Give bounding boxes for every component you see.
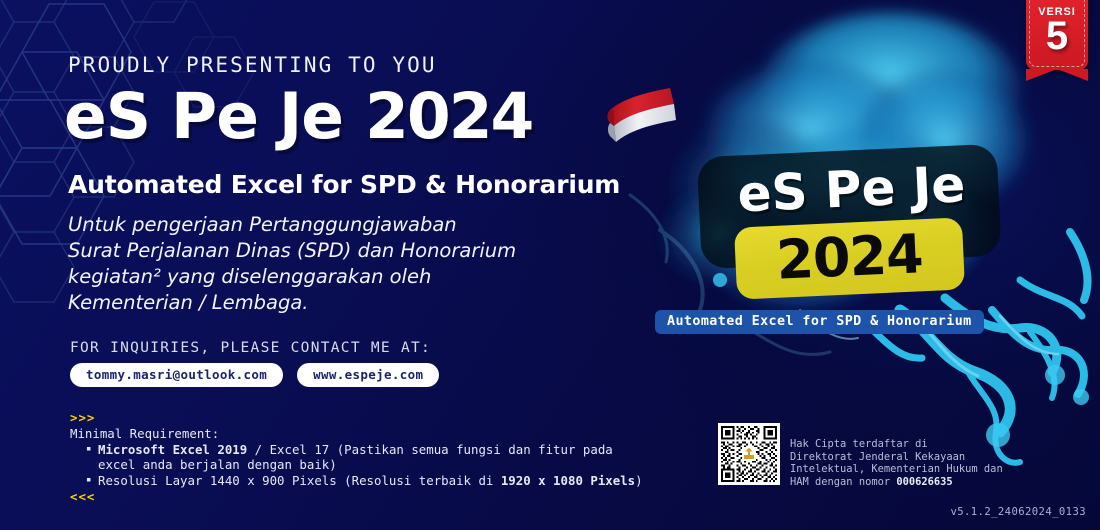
copyright-line: Intelektual, Kementerian Hukum dan (790, 463, 1003, 476)
list-item: Resolusi Layar 1440 x 900 Pixels (Resolu… (86, 473, 680, 488)
copyright-line: Hak Cipta terdaftar di (790, 438, 1003, 451)
page-title: eS Pe Je2024 (64, 85, 532, 148)
logo-tagline-pill: Automated Excel for SPD & Honorarium (655, 310, 984, 334)
contact-email-pill[interactable]: tommy.masri@outlook.com (70, 363, 283, 387)
left-content-column: PROUDLY PRESENTING TO YOU eS Pe Je2024 (68, 0, 668, 530)
list-item: Microsoft Excel 2019 / Excel 17 (Pastika… (86, 442, 680, 473)
requirements-list: Microsoft Excel 2019 / Excel 17 (Pastika… (70, 442, 680, 488)
headline-year: 2024 (365, 80, 532, 153)
copyright-line: HAM dengan nomor 000626635 (790, 476, 1003, 489)
requirements-title: Minimal Requirement: (70, 426, 680, 441)
description-line: kegiatan² yang diselenggarakan oleh (68, 264, 588, 290)
logo-year-text: 2024 (734, 223, 964, 291)
headline-brand: eS Pe Je (64, 80, 343, 153)
description-line: Surat Perjalanan Dinas (SPD) dan Honorar… (68, 238, 588, 264)
requirement-2-bold: 1920 x 1080 Pixels (501, 473, 635, 488)
brand-logo-lockup: eS Pe Je 2024 (697, 143, 1023, 307)
copyright-line: Direktorat Jenderal Kekayaan (790, 451, 1003, 464)
requirements-chevron-close: <<< (70, 489, 680, 504)
requirement-1-second-line: excel anda berjalan dengan baik) (98, 457, 337, 472)
copyright-line4-prefix: HAM dengan nomor (790, 476, 896, 488)
poster-canvas: VERSI 5 PROUDLY PRESENTING TO YOU eS Pe … (0, 0, 1100, 530)
hero-subtitle: Automated Excel for SPD & Honorarium (68, 170, 620, 199)
description-line: Kementerian / Lembaga. (68, 290, 588, 316)
version-footer-text: v5.1.2_24062024_0133 (950, 506, 1086, 518)
kicker-text: PROUDLY PRESENTING TO YOU (68, 53, 437, 77)
contact-heading: FOR INQUIRIES, PLEASE CONTACT ME AT: (70, 340, 431, 356)
copyright-text: Hak Cipta terdaftar di Direktorat Jender… (790, 438, 1003, 488)
hero-description: Untuk pengerjaan Pertanggungjawaban Sura… (68, 212, 588, 316)
contact-pill-group: tommy.masri@outlook.com www.espeje.com (70, 363, 439, 387)
requirement-1-rest: / Excel 17 (Pastikan semua fungsi dan fi… (247, 442, 613, 457)
copyright-qr-code[interactable] (718, 423, 780, 485)
requirement-2-tail: ) (635, 473, 642, 488)
copyright-registration-number: 000626635 (896, 476, 952, 488)
requirements-block: >>> Minimal Requirement: Microsoft Excel… (70, 410, 680, 504)
description-line: Untuk pengerjaan Pertanggungjawaban (68, 212, 588, 238)
requirement-2-lead: Resolusi Layar 1440 x 900 Pixels (Resolu… (98, 473, 501, 488)
indonesia-flag-ribbon-icon (604, 86, 678, 148)
contact-website-pill[interactable]: www.espeje.com (297, 363, 439, 387)
logo-brand-text: eS Pe Je (715, 158, 987, 220)
requirements-chevron-open: >>> (70, 410, 680, 425)
version-badge: VERSI 5 (1026, 0, 1088, 70)
requirement-1-bold: Microsoft Excel 2019 (98, 442, 247, 457)
version-badge-number: 5 (1026, 16, 1088, 56)
